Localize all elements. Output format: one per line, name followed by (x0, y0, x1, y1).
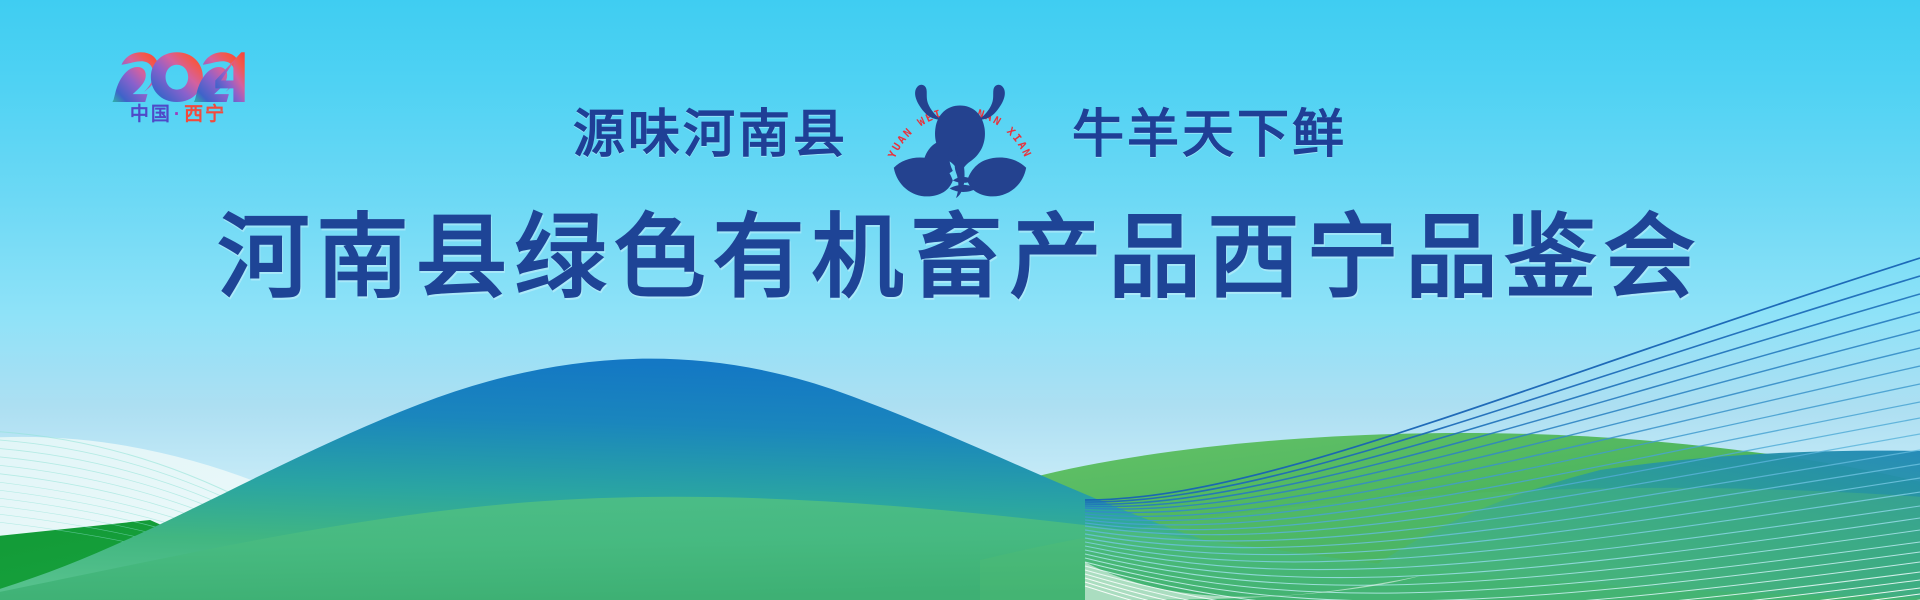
yak-head-emblem: YUAN WEI HE NAN XIAN (876, 72, 1044, 198)
place-city: 西宁 (184, 104, 226, 125)
brand-lockup: 源味河南县 YUAN WEI HE NAN XIAN (573, 72, 1347, 198)
year-logo-place: 中国·西宁 (108, 105, 248, 124)
brand-right-text: 牛羊天下鲜 (1072, 109, 1347, 161)
brand-left-text: 源味河南县 (573, 109, 848, 161)
year-2024-mark (108, 50, 248, 102)
event-banner: 中国·西宁 源味河南县 YUAN WEI HE NAN XIAN (0, 0, 1920, 600)
place-country: 中国 (130, 104, 172, 125)
place-separator: · (172, 104, 184, 125)
page-title: 河南县绿色有机畜产品西宁品鉴会 (0, 210, 1920, 307)
year-logo: 中国·西宁 (108, 50, 248, 124)
